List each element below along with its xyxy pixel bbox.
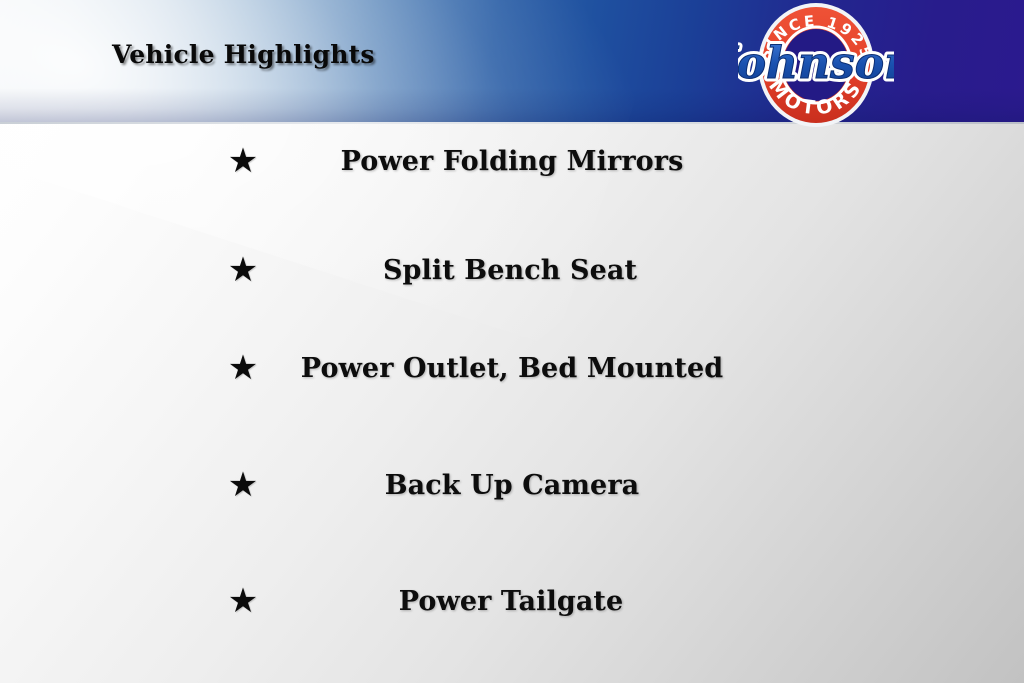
highlight-label: Split Bench Seat — [0, 248, 1022, 292]
highlight-label: Power Folding Mirrors — [0, 139, 1024, 183]
page-title: Vehicle Highlights — [112, 40, 375, 69]
johnson-motors-logo: SINCE 1925 MOTORS Johnson Johnson — [738, 0, 894, 132]
highlight-label: Back Up Camera — [0, 463, 1024, 507]
svg-text:Johnson: Johnson — [738, 38, 894, 89]
highlights-list: ★ Power Folding Mirrors ★ Split Bench Se… — [0, 122, 1024, 683]
list-item: ★ Split Bench Seat — [0, 248, 1024, 292]
highlight-label: Power Tailgate — [0, 579, 1023, 623]
list-item: ★ Power Folding Mirrors — [0, 139, 1024, 183]
highlight-label: Power Outlet, Bed Mounted — [0, 346, 1024, 390]
list-item: ★ Power Outlet, Bed Mounted — [0, 346, 1024, 390]
list-item: ★ Power Tailgate — [0, 579, 1024, 623]
list-item: ★ Back Up Camera — [0, 463, 1024, 507]
slide-canvas: Vehicle Highlights — [0, 0, 1024, 683]
logo-brand-script: Johnson Johnson — [738, 38, 894, 89]
